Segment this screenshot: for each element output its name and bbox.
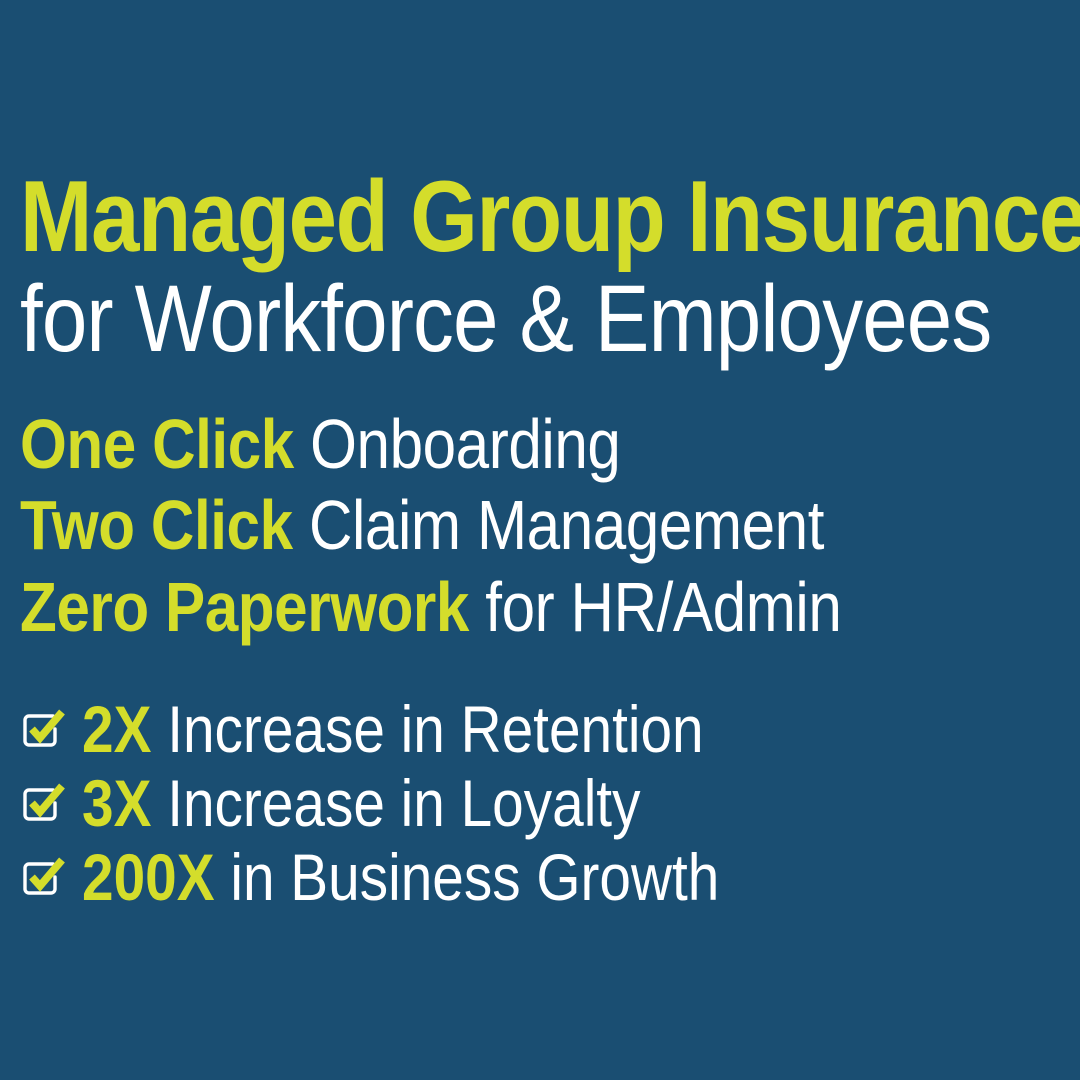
benefit-checklist: 2X Increase in Retention 3X Increase in … [20,692,1060,914]
feature-item-zero-paperwork: Zero Paperwork for HR/Admin [20,567,914,648]
headline-block: Managed Group Insurance for Workforce & … [20,166,1060,368]
checklist-item-loyalty: 3X Increase in Loyalty [20,766,1060,840]
checklist-metric: 3X [82,766,151,840]
feature-emphasis: Zero Paperwork [20,568,469,646]
feature-text: Claim Management [293,486,824,564]
checklist-label: Increase in Retention [151,692,703,766]
checklist-label: in Business Growth [215,840,720,914]
feature-text: Onboarding [294,405,621,483]
headline-primary: Managed Group Insurance [20,166,914,269]
feature-emphasis: Two Click [20,486,293,564]
checkbox-checked-icon [20,855,64,899]
checkbox-checked-icon [20,707,64,751]
checklist-text: 3X Increase in Loyalty [82,770,640,836]
headline-secondary: for Workforce & Employees [20,271,914,368]
promotional-poster: Managed Group Insurance for Workforce & … [0,0,1080,1080]
feature-text: for HR/Admin [469,568,841,646]
checklist-metric: 2X [82,692,151,766]
checklist-metric: 200X [82,840,215,914]
feature-item-two-click: Two Click Claim Management [20,485,914,566]
feature-emphasis: One Click [20,405,294,483]
feature-item-one-click: One Click Onboarding [20,404,914,485]
checklist-label: Increase in Loyalty [151,766,640,840]
checklist-text: 200X in Business Growth [82,844,719,910]
checklist-item-business-growth: 200X in Business Growth [20,840,1060,914]
feature-list: One Click Onboarding Two Click Claim Man… [20,404,1060,648]
checklist-item-retention: 2X Increase in Retention [20,692,1060,766]
checklist-text: 2X Increase in Retention [82,696,704,762]
checkbox-checked-icon [20,781,64,825]
